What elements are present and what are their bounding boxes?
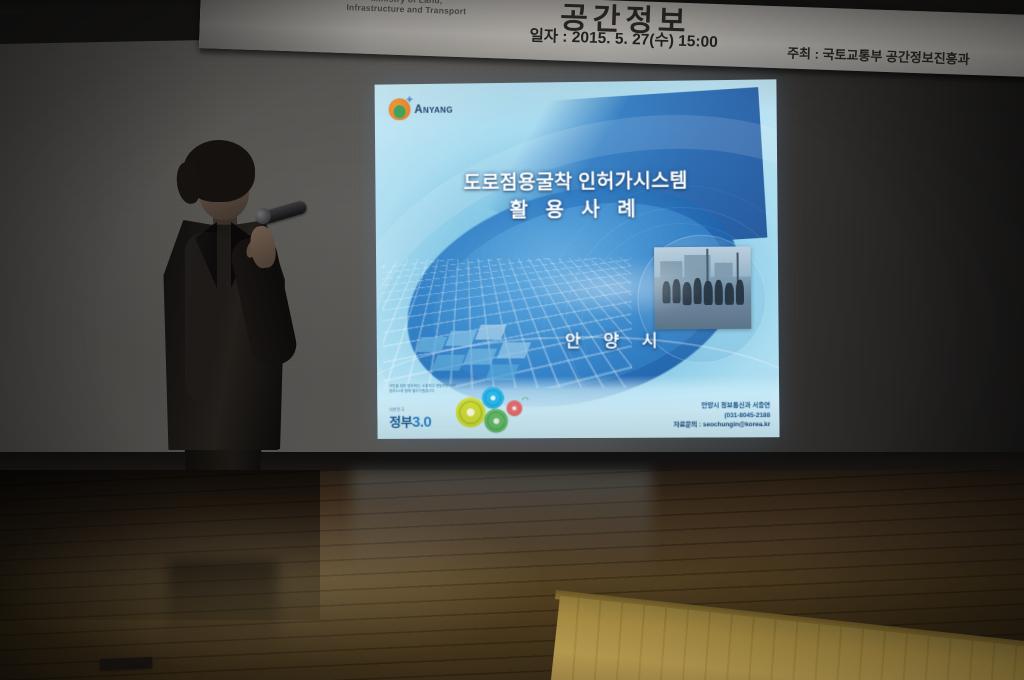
gear-icon <box>459 400 483 424</box>
photo-person <box>672 279 680 303</box>
photo-person <box>682 282 691 305</box>
floor-vent-plate <box>100 657 152 670</box>
anyang-logo-wordmark: Anyang <box>414 104 453 116</box>
photo-scene: Ministry of Land, Infrastructure and Tra… <box>0 0 1024 680</box>
slide-photo-inset <box>654 246 751 329</box>
photo-person <box>715 280 723 305</box>
photo-person <box>736 280 744 305</box>
gov-logo-version: 3.0 <box>412 414 431 431</box>
photo-pole <box>706 249 708 283</box>
contact-line-2: (031-8045-2188 <box>673 411 770 421</box>
photo-person <box>662 281 670 303</box>
gov-logo-main-text: 정부3.0 <box>389 412 431 431</box>
gear-accent-icon: ◠ <box>522 395 528 404</box>
photo-building <box>660 261 682 283</box>
contact-line-3: 자료문의 : seochungin@korea.kr <box>673 420 770 430</box>
gov-logo-word: 정부 <box>389 415 412 430</box>
photo-person <box>693 278 701 304</box>
anyang-logo-plus-icon: + <box>406 95 412 106</box>
anyang-logo-leaf-icon <box>394 105 406 118</box>
slide-contact-info: 안양시 정보통신과 서충연 (031-8045-2188 자료문의 : seoc… <box>673 401 770 431</box>
anyang-logo: + Anyang <box>389 95 508 124</box>
slide-title: 도로점용굴착 인허가시스템 활 용 사 례 <box>375 166 777 227</box>
presentation-slide: + Anyang 도로점용굴착 인허가시스템 활 용 사 례 안 양 시 국민을… <box>375 79 780 439</box>
photo-pole <box>737 253 739 283</box>
photo-person <box>704 281 713 305</box>
slide-title-line2: 활 용 사 례 <box>376 194 778 227</box>
slide-title-line1: 도로점용굴착 인허가시스템 <box>463 170 688 194</box>
gear-icon <box>484 389 501 406</box>
gear-icon <box>487 411 506 430</box>
gear-icon <box>508 402 520 414</box>
photo-person <box>725 283 734 305</box>
contact-line-1: 안양시 정보통신과 서충연 <box>673 401 770 411</box>
projection-screen: + Anyang 도로점용굴착 인허가시스템 활 용 사 례 안 양 시 국민을… <box>375 79 780 439</box>
